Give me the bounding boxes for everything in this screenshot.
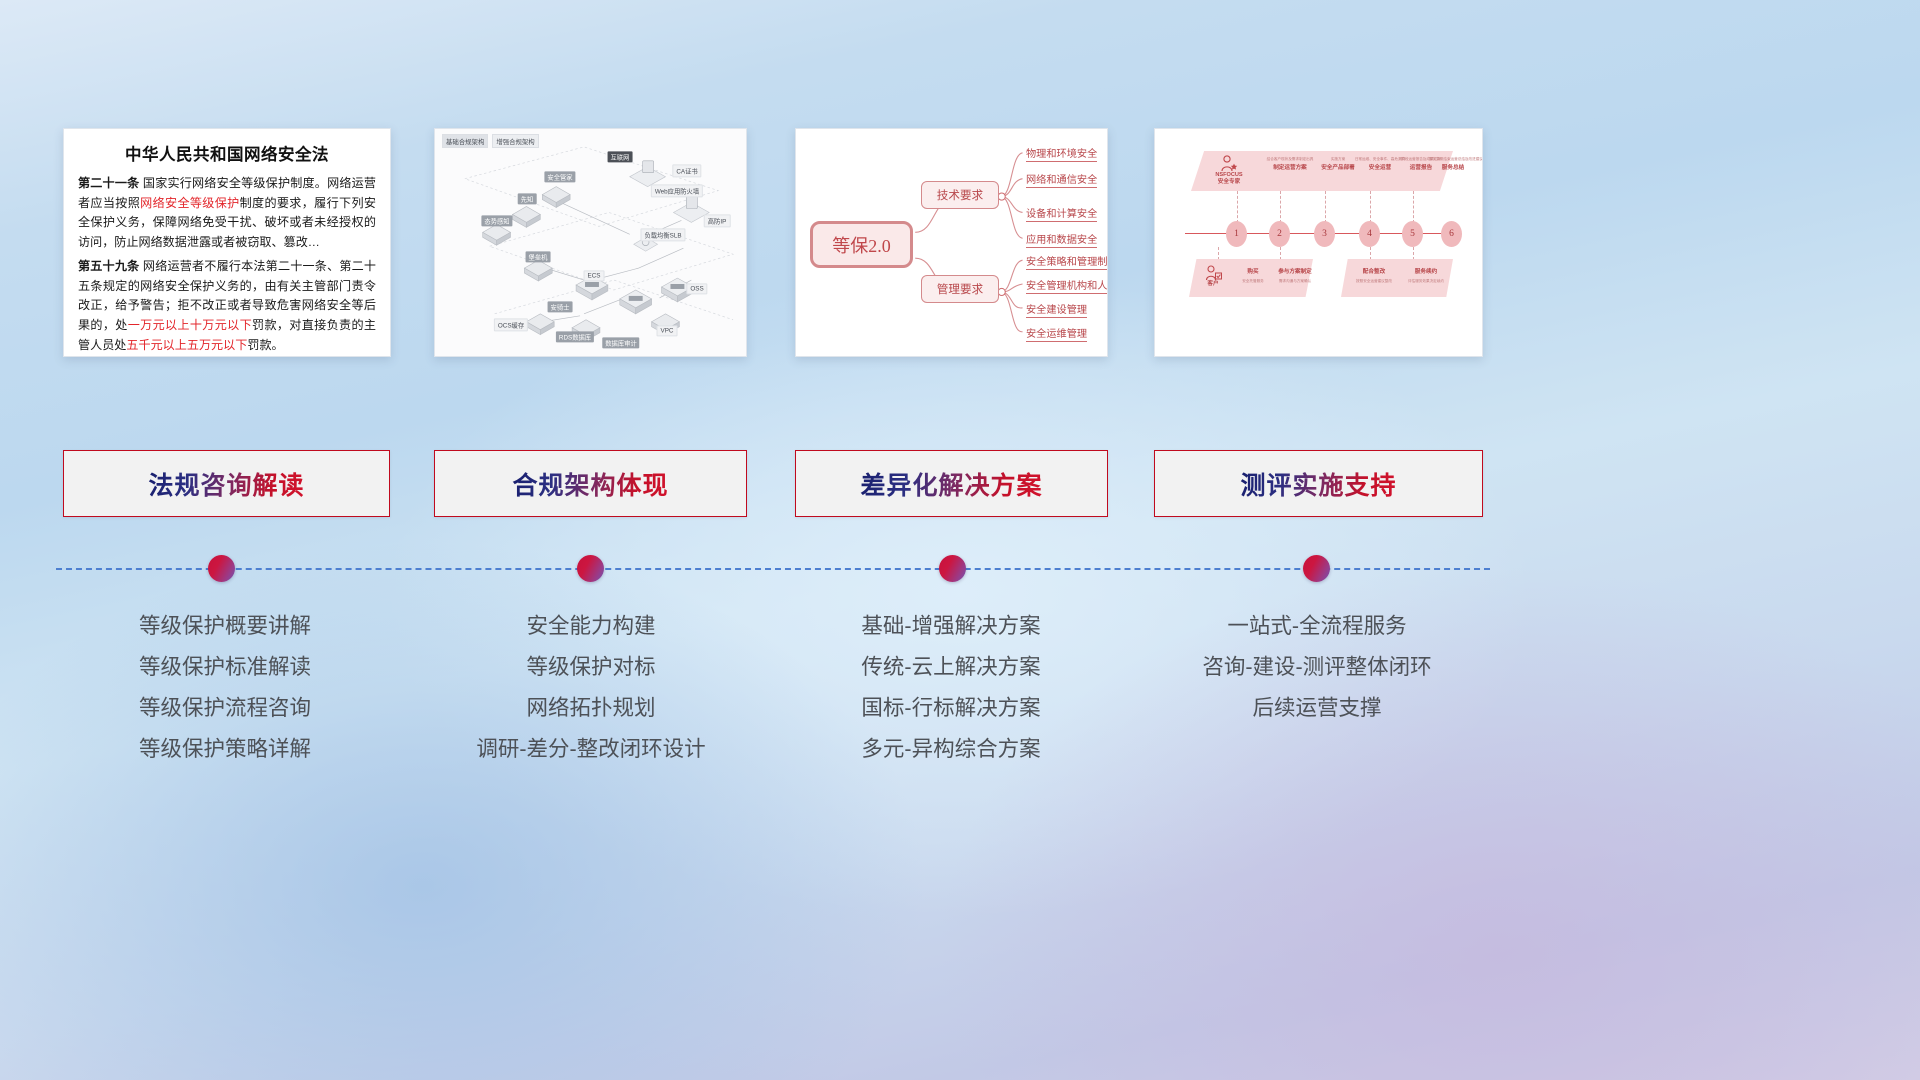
list-item: 国标-行标解决方案: [770, 688, 1132, 729]
list-item: 安全能力构建: [412, 606, 770, 647]
process-expert-brand: NSFOCUS: [1207, 172, 1251, 179]
process-number-1: 1: [1226, 221, 1247, 247]
architecture-node-label-security-butler: 安全管家: [544, 171, 575, 182]
process-number-5: 5: [1402, 221, 1423, 247]
process-bottom-step-3: 配合整改 按照安全运营建议整改: [1351, 269, 1397, 283]
law-article-59-highlight-1: 一万元以上十万元以下: [128, 318, 252, 332]
process-expert-group: NSFOCUS 安全专家: [1207, 155, 1251, 186]
list-item: 等级保护策略详解: [40, 729, 410, 770]
process-bottom-step-4: 服务续约 评估服务效果决定续约: [1403, 269, 1449, 283]
law-title: 中华人民共和国网络安全法: [78, 141, 376, 165]
process-bottom-step-2: 参与方案制定 需求沟通与方案确认: [1267, 269, 1323, 283]
mindmap-branch-technical: 技术要求: [921, 181, 999, 209]
process-bottom-step-2-title: 参与方案制定: [1267, 269, 1323, 276]
headline-text-3: 差异化解决方案: [860, 466, 1042, 502]
law-article-59-highlight-2: 五千元以上五万元以下: [126, 338, 247, 352]
card-mindmap: 等保2.0 技术要求 物理和环境安全 网络和通信安全 设备和计算安全 应用和数据…: [795, 128, 1108, 357]
timeline-dashed-line: [56, 568, 1490, 570]
architecture-node-label-ca-cert: CA证书: [672, 164, 701, 177]
bullet-list-2: 安全能力构建 等级保护对标 网络拓扑规划 调研-差分-整改闭环设计: [412, 606, 770, 770]
process-dash-4: [1370, 191, 1371, 223]
timeline-dot-1: [208, 555, 235, 582]
list-item: 咨询-建设-测评整体闭环: [1130, 647, 1504, 688]
architecture-node-label-db-audit: 数据库审计: [602, 337, 639, 348]
process-dash-5: [1413, 191, 1414, 223]
architecture-node-label-anti-ddos: 高防IP: [704, 214, 731, 227]
process-canvas: NSFOCUS 安全专家 结合客户现状及需求制定出具 制定运营方案 实施方案 安…: [1155, 129, 1482, 356]
list-item: 等级保护对标: [412, 647, 770, 688]
law-article-21-highlight: 网络安全等级保护: [140, 196, 239, 210]
mindmap-leaf-network-comm: 网络和通信安全: [1026, 171, 1097, 188]
mindmap-leaf-device-compute: 设备和计算安全: [1026, 205, 1097, 222]
architecture-node-label-slb: 负载均衡SLB: [640, 228, 685, 241]
list-item: 后续运营支撑: [1130, 688, 1504, 729]
architecture-node-label-ecs: ECS: [584, 270, 605, 281]
process-number-2: 2: [1269, 221, 1290, 247]
law-article-59: 第五十九条 网络运营者不履行本法第二十一条、第二十五条规定的网络安全保护义务的，…: [78, 257, 376, 355]
process-top-step-5-title: 服务总结: [1429, 165, 1477, 172]
architecture-canvas: 基础合规架构 增强合规架构: [435, 129, 746, 356]
expert-person-icon: [1219, 155, 1239, 172]
mindmap-leaf-ops-mgmt: 安全运维管理: [1026, 325, 1087, 342]
headline-box-3[interactable]: 差异化解决方案: [795, 450, 1108, 517]
process-dash-1: [1237, 191, 1238, 223]
process-bottom-step-4-title: 服务续约: [1403, 269, 1449, 276]
process-customer-group: 客户: [1195, 265, 1231, 288]
list-item: 一站式-全流程服务: [1130, 606, 1504, 647]
mindmap-branch-management: 管理要求: [921, 275, 999, 303]
headline-box-2[interactable]: 合规架构体现: [434, 450, 747, 517]
architecture-node-label-vpc: VPC: [657, 325, 678, 336]
infographic-stage: 中华人民共和国网络安全法 第二十一条 国家实行网络安全等级保护制度。网络运营者应…: [0, 0, 1920, 1080]
card-architecture-diagram: 基础合规架构 增强合规架构: [434, 128, 747, 357]
process-bottom-step-3-sub: 按照安全运营建议整改: [1351, 279, 1397, 283]
law-article-21: 第二十一条 国家实行网络安全等级保护制度。网络运营者应当按照网络安全等级保护制度…: [78, 174, 376, 252]
card-law-document: 中华人民共和国网络安全法 第二十一条 国家实行网络安全等级保护制度。网络运营者应…: [63, 128, 391, 357]
mindmap-leaf-policy-system: 安全策略和管理制度: [1026, 253, 1108, 270]
list-item: 调研-差分-整改闭环设计: [412, 729, 770, 770]
architecture-node-label-oss: OSS: [686, 283, 707, 294]
process-bottom-step-4-sub: 评估服务效果决定续约: [1403, 279, 1449, 283]
mindmap-leaf-construction-mgmt: 安全建设管理: [1026, 301, 1087, 318]
process-number-6: 6: [1441, 221, 1462, 247]
process-number-4: 4: [1359, 221, 1380, 247]
timeline-dot-2: [577, 555, 604, 582]
law-article-59-end: 罚款。: [247, 338, 283, 352]
law-article-59-label: 第五十九条: [78, 259, 139, 273]
process-number-3: 3: [1314, 221, 1335, 247]
process-bottom-step-3-title: 配合整改: [1351, 269, 1397, 276]
card-process-timeline: NSFOCUS 安全专家 结合客户现状及需求制定出具 制定运营方案 实施方案 安…: [1154, 128, 1483, 357]
architecture-node-label-internet: 互联网: [608, 151, 633, 162]
architecture-nodes-svg: [435, 129, 746, 357]
mindmap-leaf-physical-env: 物理和环境安全: [1026, 145, 1097, 162]
process-dash-3: [1325, 191, 1326, 223]
process-top-step-5: 服务周期结束运营总结及改进建议 服务总结: [1429, 157, 1477, 172]
mindmap-canvas: 等保2.0 技术要求 物理和环境安全 网络和通信安全 设备和计算安全 应用和数据…: [796, 129, 1107, 356]
process-top-step-5-sub: 服务周期结束运营总结及改进建议: [1429, 157, 1477, 161]
architecture-node-label-rds: RDS数据库: [556, 331, 594, 342]
bullet-list-1: 等级保护概要讲解 等级保护标准解读 等级保护流程咨询 等级保护策略详解: [40, 606, 410, 770]
law-article-21-label: 第二十一条: [78, 176, 139, 190]
architecture-node-label-anqishi: 安骑士: [548, 301, 573, 312]
list-item: 传统-云上解决方案: [770, 647, 1132, 688]
process-customer-role: 客户: [1195, 281, 1231, 288]
mindmap-leaf-org-personnel: 安全管理机构和人员: [1026, 277, 1108, 294]
architecture-node-label-situation-awareness: 态势感知: [481, 215, 512, 226]
architecture-node-label-bastion: 堡垒机: [526, 251, 551, 262]
headline-text-1: 法规咨询解读: [148, 466, 304, 502]
bullet-list-3: 基础-增强解决方案 传统-云上解决方案 国标-行标解决方案 多元-异构综合方案: [770, 606, 1132, 770]
list-item: 基础-增强解决方案: [770, 606, 1132, 647]
headline-box-1[interactable]: 法规咨询解读: [63, 450, 390, 517]
architecture-node-label-waf: Web应用防火墙: [651, 184, 703, 197]
process-expert-role: 安全专家: [1207, 179, 1251, 186]
headline-text-4: 测评实施支持: [1240, 466, 1396, 502]
timeline-dot-4: [1303, 555, 1330, 582]
process-dash-2: [1280, 191, 1281, 223]
process-bottom-step-2-sub: 需求沟通与方案确认: [1267, 279, 1323, 283]
timeline-dot-3: [939, 555, 966, 582]
mindmap-leaf-app-data: 应用和数据安全: [1026, 231, 1097, 248]
list-item: 网络拓扑规划: [412, 688, 770, 729]
list-item: 等级保护流程咨询: [40, 688, 410, 729]
list-item: 等级保护概要讲解: [40, 606, 410, 647]
architecture-node-label-ocs: OCS缓存: [494, 318, 528, 331]
headline-text-2: 合规架构体现: [512, 466, 668, 502]
list-item: 多元-异构综合方案: [770, 729, 1132, 770]
law-document-body: 中华人民共和国网络安全法 第二十一条 国家实行网络安全等级保护制度。网络运营者应…: [64, 129, 390, 357]
bullet-list-4: 一站式-全流程服务 咨询-建设-测评整体闭环 后续运营支撑: [1130, 606, 1504, 729]
mindmap-root-node: 等保2.0: [810, 221, 913, 268]
customer-person-icon: [1204, 265, 1222, 281]
headline-box-4[interactable]: 测评实施支持: [1154, 450, 1483, 517]
list-item: 等级保护标准解读: [40, 647, 410, 688]
architecture-node-label-xianzhi: 先知: [518, 193, 537, 204]
